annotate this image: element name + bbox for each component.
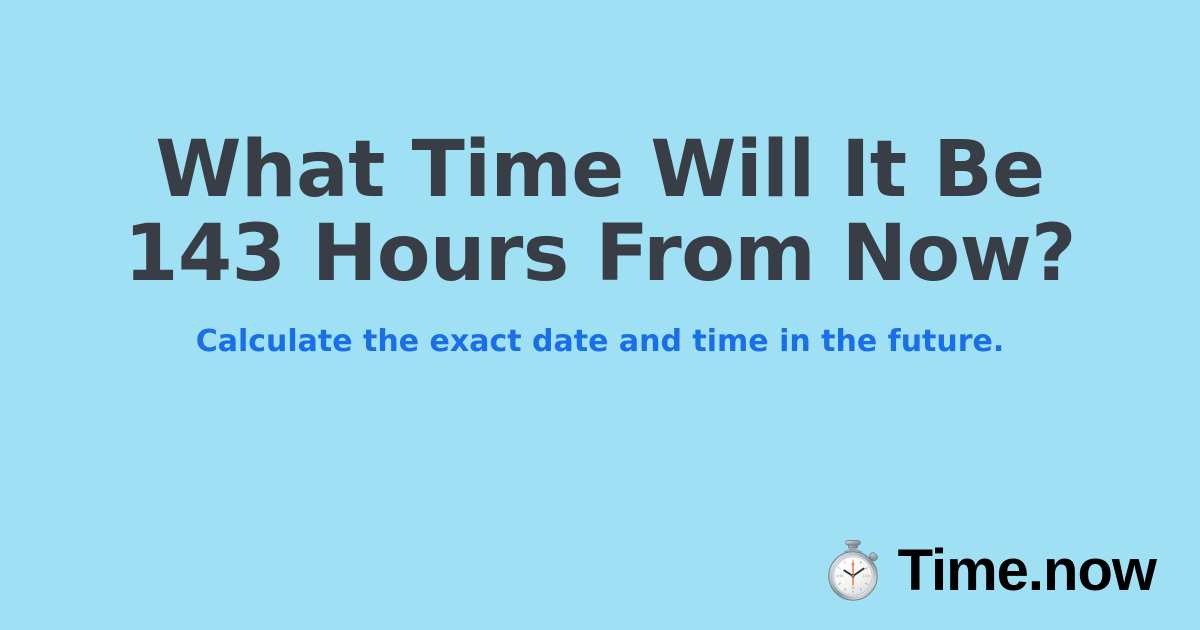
open-graph-card: What Time Will It Be 143 Hours From Now?… bbox=[0, 0, 1200, 630]
page-title-line-2: 143 Hours From Now? bbox=[0, 212, 1200, 296]
brand-name: Time.now bbox=[898, 542, 1156, 600]
stopwatch-icon: 60 15 30 45 bbox=[824, 540, 884, 602]
headline-block: What Time Will It Be 143 Hours From Now? bbox=[0, 128, 1200, 296]
subtitle-block: Calculate the exact date and time in the… bbox=[0, 323, 1200, 361]
svg-text:15: 15 bbox=[862, 574, 866, 578]
svg-text:45: 45 bbox=[839, 574, 843, 578]
brand-lockup[interactable]: 60 15 30 45 Time.now bbox=[824, 540, 1156, 602]
page-title-line-1: What Time Will It Be bbox=[0, 128, 1200, 212]
page-subtitle: Calculate the exact date and time in the… bbox=[0, 323, 1200, 361]
svg-text:30: 30 bbox=[850, 586, 854, 590]
page-title: What Time Will It Be 143 Hours From Now? bbox=[0, 128, 1200, 296]
